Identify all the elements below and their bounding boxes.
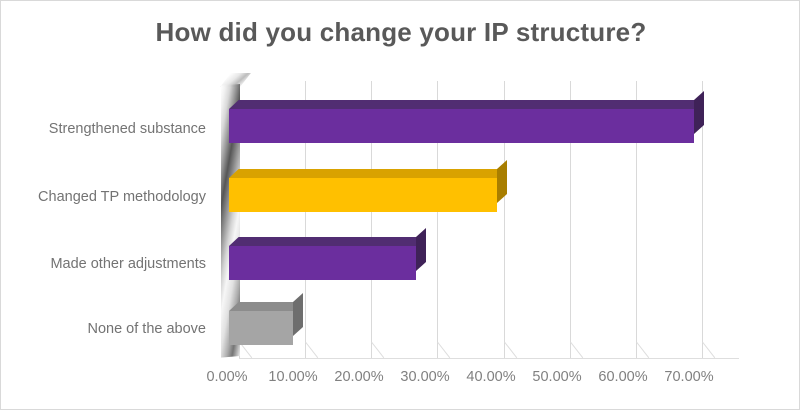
bar-none-of-the-above: [229, 311, 293, 345]
bar-top-face: [229, 100, 704, 109]
x-axis-tick-0: 0.00%: [206, 369, 247, 385]
bar-front-face: [229, 178, 497, 212]
bar-side-face: [416, 228, 426, 271]
axis-baseline: [239, 358, 739, 359]
chart-container: How did you change your IP structure?: [0, 0, 800, 410]
floor-tick-30: [437, 342, 450, 358]
x-axis-tick-6: 60.00%: [598, 369, 647, 385]
bar-side-face: [293, 293, 303, 336]
plot-area: Strengthened substance Changed TP method…: [1, 1, 800, 410]
bar-top-face: [229, 169, 507, 178]
x-axis-tick-2: 20.00%: [334, 369, 383, 385]
y-axis-label-2: Made other adjustments: [50, 256, 206, 272]
bar-side-face: [497, 160, 507, 203]
bar-front-face: [229, 246, 416, 280]
bar-changed-tp-methodology: [229, 178, 497, 212]
floor-tick-60: [636, 342, 649, 358]
bar-strengthened-substance: [229, 109, 694, 143]
x-axis-tick-7: 70.00%: [664, 369, 713, 385]
bar-top-face: [229, 237, 426, 246]
bar-front-face: [229, 311, 293, 345]
y-axis-label-3: None of the above: [87, 321, 206, 337]
floor-tick-50: [570, 342, 583, 358]
floor-tick-70: [702, 342, 715, 358]
floor-tick-10: [305, 342, 318, 358]
x-axis-tick-5: 50.00%: [532, 369, 581, 385]
y-axis-label-0: Strengthened substance: [49, 121, 206, 137]
floor-tick-20: [371, 342, 384, 358]
bar-front-face: [229, 109, 694, 143]
x-axis-tick-4: 40.00%: [466, 369, 515, 385]
bar-made-other-adjustments: [229, 246, 416, 280]
x-axis-tick-3: 30.00%: [400, 369, 449, 385]
bar-top-face: [229, 302, 303, 311]
x-axis-tick-1: 10.00%: [268, 369, 317, 385]
y-axis-label-1: Changed TP methodology: [38, 189, 206, 205]
floor-tick-40: [504, 342, 517, 358]
